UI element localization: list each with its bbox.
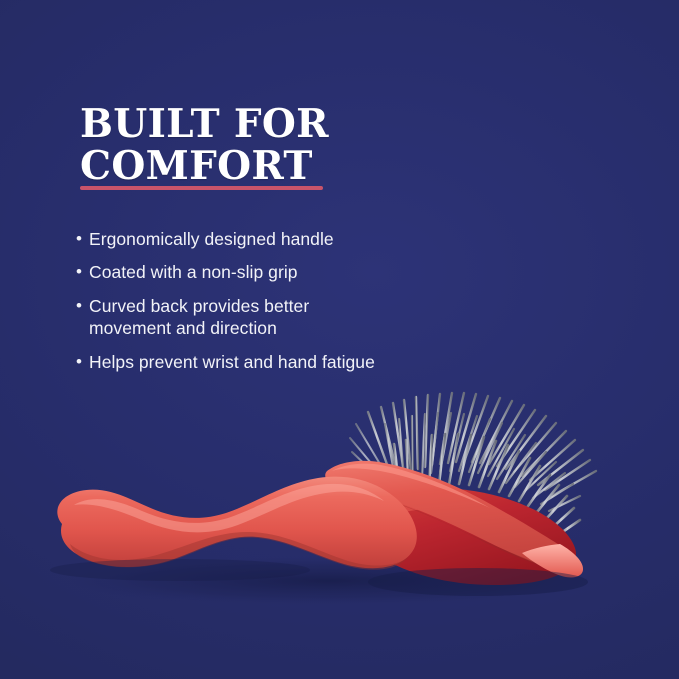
promo-image: BUILT FOR COMFORT • Ergonomically design… [0,0,679,679]
page-title: BUILT FOR COMFORT [80,104,500,187]
list-item-label: Coated with a non-slip grip [89,261,506,283]
bullet-dot-icon: • [76,228,89,250]
title-divider [80,186,323,190]
product-image-slicker-brush [0,372,679,632]
list-item: • Ergonomically designed handle [76,228,506,250]
list-item: • Curved back provides better movement a… [76,295,506,340]
bullet-dot-icon: • [76,295,89,317]
head-contact-shadow [368,568,588,596]
list-item: • Coated with a non-slip grip [76,261,506,283]
handle-contact-shadow [50,559,310,581]
list-item: • Helps prevent wrist and hand fatigue [76,351,506,373]
list-item-label: Curved back provides better movement and… [89,295,506,340]
bullet-dot-icon: • [76,261,89,283]
list-item-label: Ergonomically designed handle [89,228,506,250]
feature-list: • Ergonomically designed handle • Coated… [76,228,506,384]
bullet-dot-icon: • [76,351,89,373]
list-item-label: Helps prevent wrist and hand fatigue [89,351,506,373]
